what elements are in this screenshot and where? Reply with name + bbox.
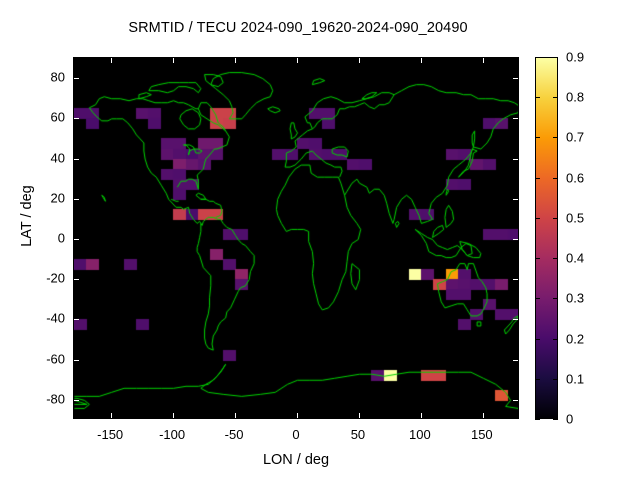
x-tick-mark bbox=[359, 413, 360, 418]
y-tick-mark bbox=[74, 360, 79, 361]
colorbar-tick-label: 0.5 bbox=[566, 210, 584, 225]
map-axes[interactable] bbox=[73, 57, 519, 419]
y-tick-mark bbox=[74, 400, 79, 401]
x-tick-label: -100 bbox=[159, 427, 185, 442]
colorbar-tick-mark bbox=[535, 298, 540, 299]
y-tick-mark-right bbox=[513, 279, 518, 280]
colorbar-tick-label: 0.9 bbox=[566, 50, 584, 65]
x-tick-label: -50 bbox=[225, 427, 244, 442]
x-tick-mark-top bbox=[235, 58, 236, 63]
x-tick-mark-top bbox=[483, 58, 484, 63]
colorbar-tick-mark-right bbox=[553, 419, 558, 420]
y-tick-mark-right bbox=[513, 400, 518, 401]
colorbar-tick-mark bbox=[535, 218, 540, 219]
x-tick-mark-top bbox=[359, 58, 360, 63]
x-tick-label: 150 bbox=[471, 427, 493, 442]
y-tick-mark bbox=[74, 239, 79, 240]
x-tick-mark bbox=[483, 413, 484, 418]
y-tick-mark-right bbox=[513, 159, 518, 160]
y-tick-mark bbox=[74, 159, 79, 160]
x-tick-label: -150 bbox=[97, 427, 123, 442]
colorbar-tick-mark-right bbox=[553, 137, 558, 138]
x-tick-mark-top bbox=[297, 58, 298, 63]
colorbar[interactable] bbox=[535, 57, 558, 419]
y-tick-mark-right bbox=[513, 319, 518, 320]
colorbar-tick-label: 0.7 bbox=[566, 130, 584, 145]
colorbar-tick-mark-right bbox=[553, 298, 558, 299]
y-tick-mark bbox=[74, 279, 79, 280]
colorbar-tick-mark bbox=[535, 379, 540, 380]
colorbar-tick-mark-right bbox=[553, 97, 558, 98]
colorbar-gradient bbox=[535, 57, 558, 419]
colorbar-tick-label: 0.4 bbox=[566, 251, 584, 266]
y-tick-mark bbox=[74, 118, 79, 119]
colorbar-tick-mark-right bbox=[553, 178, 558, 179]
colorbar-tick-label: 0.8 bbox=[566, 90, 584, 105]
colorbar-tick-label: 0.2 bbox=[566, 331, 584, 346]
y-tick-mark-right bbox=[513, 360, 518, 361]
colorbar-tick-mark-right bbox=[553, 339, 558, 340]
x-tick-mark-top bbox=[421, 58, 422, 63]
x-tick-label: 100 bbox=[409, 427, 431, 442]
y-axis-label: LAT / deg bbox=[19, 146, 35, 286]
x-tick-mark bbox=[297, 413, 298, 418]
colorbar-tick-mark bbox=[535, 258, 540, 259]
colorbar-tick-label: 0.6 bbox=[566, 170, 584, 185]
y-tick-label: -80 bbox=[15, 391, 65, 406]
y-tick-mark bbox=[74, 319, 79, 320]
x-tick-mark bbox=[111, 413, 112, 418]
colorbar-tick-mark-right bbox=[553, 218, 558, 219]
y-tick-mark-right bbox=[513, 118, 518, 119]
plot-title: SRMTID / TECU 2024-090_19620-2024-090_20… bbox=[0, 20, 596, 36]
y-tick-label: -60 bbox=[15, 351, 65, 366]
colorbar-tick-mark bbox=[535, 97, 540, 98]
colorbar-tick-mark-right bbox=[553, 379, 558, 380]
colorbar-tick-mark-right bbox=[553, 57, 558, 58]
colorbar-tick-label: 0 bbox=[566, 412, 573, 427]
x-tick-mark-top bbox=[111, 58, 112, 63]
colorbar-tick-label: 0.1 bbox=[566, 371, 584, 386]
x-tick-label: 50 bbox=[351, 427, 365, 442]
x-axis-label: LON / deg bbox=[73, 452, 519, 468]
y-tick-mark-right bbox=[513, 199, 518, 200]
y-tick-mark bbox=[74, 199, 79, 200]
y-tick-mark-right bbox=[513, 78, 518, 79]
y-tick-label: -40 bbox=[15, 311, 65, 326]
colorbar-tick-mark bbox=[535, 57, 540, 58]
x-tick-mark bbox=[421, 413, 422, 418]
x-tick-mark bbox=[173, 413, 174, 418]
x-tick-label: 0 bbox=[292, 427, 299, 442]
world-map-heatmap[interactable] bbox=[74, 58, 519, 419]
y-tick-mark bbox=[74, 78, 79, 79]
figure-container: SRMTID / TECU 2024-090_19620-2024-090_20… bbox=[0, 0, 640, 480]
y-tick-label: 80 bbox=[15, 70, 65, 85]
x-tick-mark bbox=[235, 413, 236, 418]
colorbar-tick-label: 0.3 bbox=[566, 291, 584, 306]
x-tick-mark-top bbox=[173, 58, 174, 63]
y-tick-label: 60 bbox=[15, 110, 65, 125]
colorbar-tick-mark bbox=[535, 339, 540, 340]
colorbar-tick-mark bbox=[535, 137, 540, 138]
colorbar-tick-mark bbox=[535, 419, 540, 420]
colorbar-tick-mark-right bbox=[553, 258, 558, 259]
y-tick-mark-right bbox=[513, 239, 518, 240]
colorbar-tick-mark bbox=[535, 178, 540, 179]
